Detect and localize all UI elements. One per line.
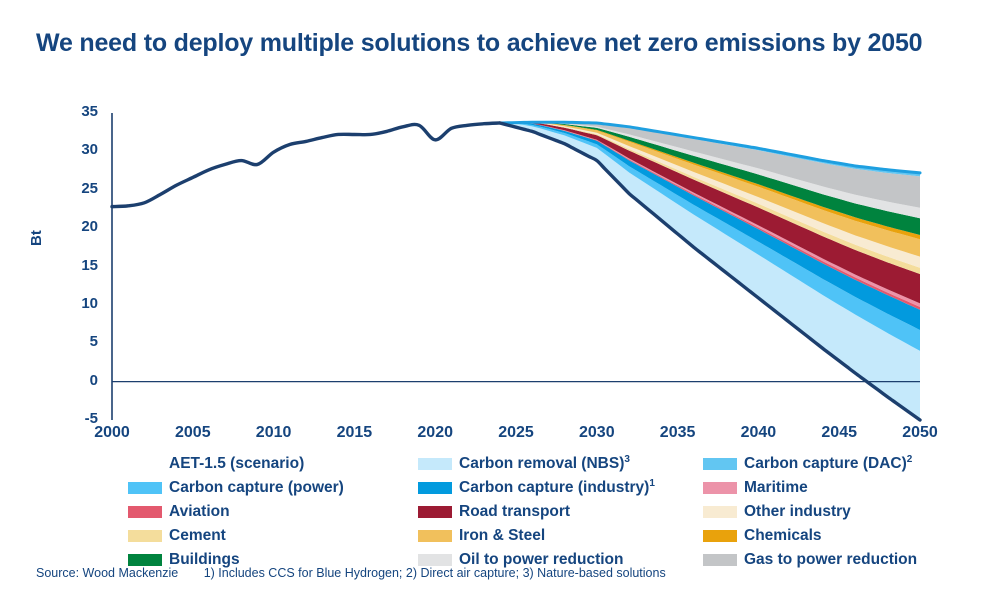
legend-label-aviation: Aviation <box>169 503 230 521</box>
legend-label-chemicals: Chemicals <box>744 527 822 545</box>
legend-item-gas-to-power-reduction[interactable]: Gas to power reduction <box>703 548 988 572</box>
legend-label-cement: Cement <box>169 527 226 545</box>
legend-label-iron-and-steel: Iron & Steel <box>459 527 545 545</box>
legend-swatch-aet-15-scenario <box>128 458 162 470</box>
historical-emissions-line <box>112 123 500 207</box>
legend-swatch-buildings <box>128 554 162 566</box>
legend-item-other-industry[interactable]: Other industry <box>703 500 988 524</box>
legend-item-aet-15-scenario[interactable]: AET-1.5 (scenario) <box>128 452 418 476</box>
legend-row: AviationRoad transportOther industry <box>128 500 988 524</box>
legend-item-maritime[interactable]: Maritime <box>703 476 988 500</box>
x-tick-2015: 2015 <box>319 424 389 442</box>
chart-legend: AET-1.5 (scenario)Carbon removal (NBS)3C… <box>128 452 988 572</box>
legend-swatch-maritime <box>703 482 737 494</box>
legend-footnote-marker: 2 <box>907 454 913 465</box>
x-tick-2035: 2035 <box>643 424 713 442</box>
x-tick-2020: 2020 <box>400 424 470 442</box>
legend-label-carbon-capture-dac: Carbon capture (DAC)2 <box>744 454 912 473</box>
legend-swatch-road-transport <box>418 506 452 518</box>
legend-swatch-oil-to-power-reduction <box>418 554 452 566</box>
legend-swatch-carbon-capture-dac <box>703 458 737 470</box>
legend-item-cement[interactable]: Cement <box>128 524 418 548</box>
legend-swatch-iron-and-steel <box>418 530 452 542</box>
legend-swatch-carbon-capture-power <box>128 482 162 494</box>
legend-item-carbon-capture-industry[interactable]: Carbon capture (industry)1 <box>418 476 703 500</box>
legend-label-carbon-removal-nbs: Carbon removal (NBS)3 <box>459 454 630 473</box>
y-tick-15: 15 <box>54 257 98 274</box>
x-tick-2030: 2030 <box>562 424 632 442</box>
legend-item-aviation[interactable]: Aviation <box>128 500 418 524</box>
legend-label-road-transport: Road transport <box>459 503 570 521</box>
legend-item-carbon-capture-dac[interactable]: Carbon capture (DAC)2 <box>703 452 988 476</box>
legend-label-other-industry: Other industry <box>744 503 851 521</box>
legend-swatch-gas-to-power-reduction <box>703 554 737 566</box>
y-tick-20: 20 <box>54 218 98 235</box>
y-tick-30: 30 <box>54 141 98 158</box>
y-tick-10: 10 <box>54 295 98 312</box>
y-axis-ticks: 35302520151050-5 <box>42 0 98 600</box>
source-credit: Source: Wood Mackenzie <box>36 566 178 580</box>
x-tick-2005: 2005 <box>158 424 228 442</box>
legend-swatch-aviation <box>128 506 162 518</box>
x-tick-2045: 2045 <box>804 424 874 442</box>
legend-swatch-carbon-capture-industry <box>418 482 452 494</box>
legend-item-carbon-capture-power[interactable]: Carbon capture (power) <box>128 476 418 500</box>
legend-swatch-chemicals <box>703 530 737 542</box>
legend-row: CementIron & SteelChemicals <box>128 524 988 548</box>
legend-item-iron-and-steel[interactable]: Iron & Steel <box>418 524 703 548</box>
x-tick-2050: 2050 <box>885 424 955 442</box>
x-tick-2025: 2025 <box>481 424 551 442</box>
source-notes: 1) Includes CCS for Blue Hydrogen; 2) Di… <box>204 566 666 580</box>
y-tick-25: 25 <box>54 180 98 197</box>
legend-label-carbon-capture-power: Carbon capture (power) <box>169 479 344 497</box>
y-tick-5: 5 <box>54 333 98 350</box>
source-line: Source: Wood Mackenzie 1) Includes CCS f… <box>36 566 666 580</box>
y-tick-0: 0 <box>54 372 98 389</box>
legend-swatch-carbon-removal-nbs <box>418 458 452 470</box>
legend-label-carbon-capture-industry: Carbon capture (industry)1 <box>459 478 655 497</box>
legend-row: Carbon capture (power)Carbon capture (in… <box>128 476 988 500</box>
legend-row: AET-1.5 (scenario)Carbon removal (NBS)3C… <box>128 452 988 476</box>
legend-label-aet-15-scenario: AET-1.5 (scenario) <box>169 455 304 473</box>
legend-footnote-marker: 3 <box>624 454 630 465</box>
legend-label-gas-to-power-reduction: Gas to power reduction <box>744 551 917 569</box>
legend-item-chemicals[interactable]: Chemicals <box>703 524 988 548</box>
legend-swatch-other-industry <box>703 506 737 518</box>
y-tick-35: 35 <box>54 103 98 120</box>
legend-footnote-marker: 1 <box>649 478 655 489</box>
legend-label-maritime: Maritime <box>744 479 808 497</box>
legend-item-carbon-removal-nbs[interactable]: Carbon removal (NBS)3 <box>418 452 703 476</box>
legend-item-road-transport[interactable]: Road transport <box>418 500 703 524</box>
x-tick-2010: 2010 <box>239 424 309 442</box>
legend-swatch-cement <box>128 530 162 542</box>
x-tick-2040: 2040 <box>723 424 793 442</box>
x-tick-2000: 2000 <box>77 424 147 442</box>
